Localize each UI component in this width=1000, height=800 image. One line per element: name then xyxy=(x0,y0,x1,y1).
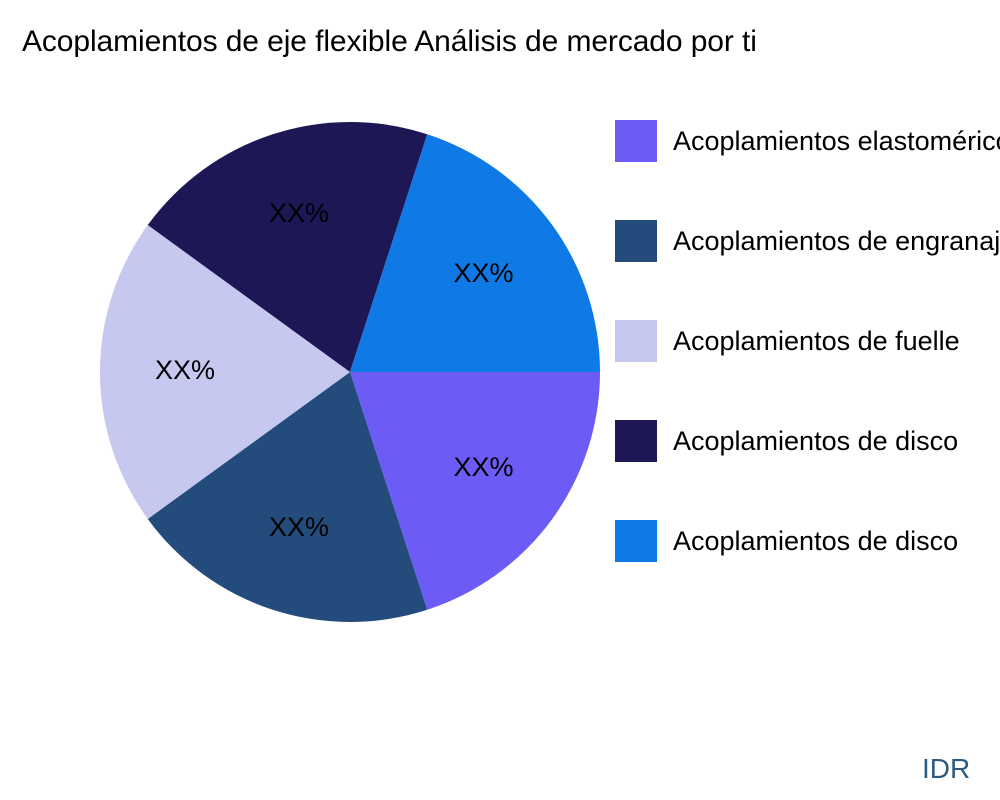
legend-item-label: Acoplamientos de engranajes xyxy=(673,225,1000,257)
legend-item[interactable]: Acoplamientos de engranajes xyxy=(615,220,1000,262)
pie-slice-value-label: XX% xyxy=(269,512,329,542)
legend-swatch-icon xyxy=(615,120,657,162)
legend-item[interactable]: Acoplamientos de disco xyxy=(615,520,1000,562)
pie-slice-value-label: XX% xyxy=(453,452,513,482)
chart-canvas: Acoplamientos de eje flexible Análisis d… xyxy=(0,0,1000,800)
legend-item-label: Acoplamientos de disco xyxy=(673,425,958,457)
pie-slice-value-label: XX% xyxy=(269,198,329,228)
legend-swatch-icon xyxy=(615,420,657,462)
pie-slice-value-label: XX% xyxy=(155,355,215,385)
legend-item-label: Acoplamientos de disco xyxy=(673,525,958,557)
legend-item[interactable]: Acoplamientos de fuelle xyxy=(615,320,1000,362)
legend-swatch-icon xyxy=(615,320,657,362)
brand-watermark: IDR xyxy=(922,752,970,786)
legend-item-label: Acoplamientos de fuelle xyxy=(673,325,960,357)
pie-chart: XX%XX%XX%XX%XX% xyxy=(100,122,600,622)
legend-swatch-icon xyxy=(615,220,657,262)
legend-swatch-icon xyxy=(615,520,657,562)
chart-title: Acoplamientos de eje flexible Análisis d… xyxy=(22,22,1000,62)
legend-item[interactable]: Acoplamientos de disco xyxy=(615,420,1000,462)
pie-slice-value-label: XX% xyxy=(453,258,513,288)
legend-item[interactable]: Acoplamientos elastoméricos xyxy=(615,120,1000,162)
legend: Acoplamientos elastoméricosAcoplamientos… xyxy=(615,120,1000,562)
pie-svg: XX%XX%XX%XX%XX% xyxy=(100,122,600,622)
legend-item-label: Acoplamientos elastoméricos xyxy=(673,125,1000,157)
